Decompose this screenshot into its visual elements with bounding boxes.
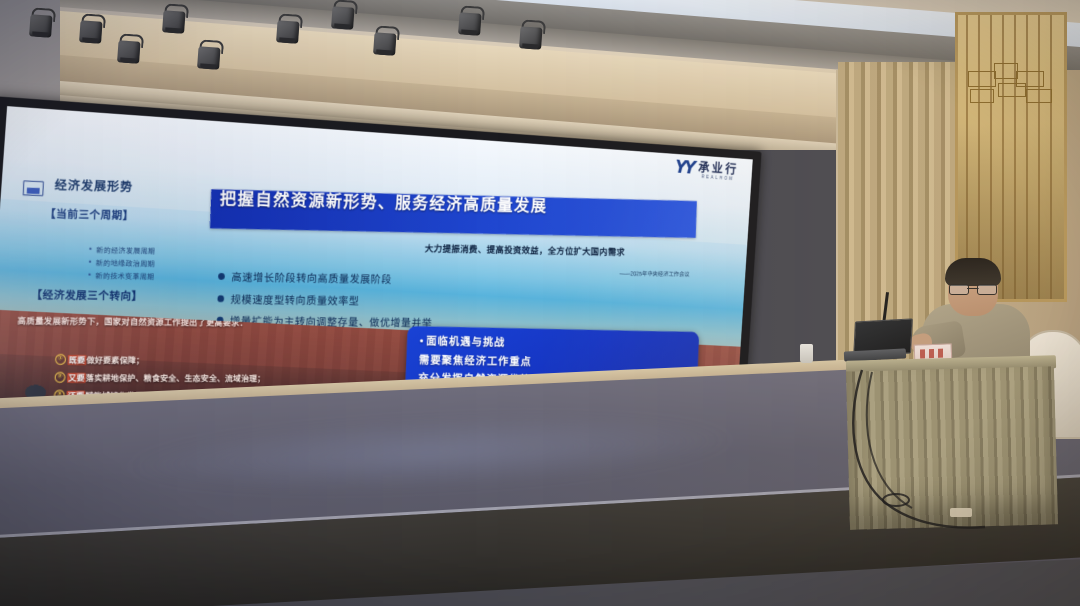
logo-company-cn: 承业行 <box>698 159 739 176</box>
item-text: 落实耕地保护、粮食安全、生态安全、流域治理； <box>86 373 266 383</box>
item-highlight: 又要 <box>67 373 86 383</box>
stage-spotlight-icon <box>27 7 55 39</box>
stage-spotlight-icon <box>160 3 188 35</box>
logo-mark-icon: YY <box>674 159 693 178</box>
cycles-list: 新的经济发展周期 新的地缘政治周期 新的技术变革周期 <box>56 244 155 284</box>
stage-spotlight-icon <box>115 33 143 65</box>
water-cup <box>800 344 813 363</box>
section-heading: 经济发展形势 <box>55 174 134 195</box>
eyeglasses-icon <box>949 284 997 293</box>
bracket-heading-turns: 【经济发展三个转向】 <box>31 287 143 304</box>
section-marker-icon <box>23 181 44 196</box>
stage-spotlight-icon <box>329 0 357 31</box>
presenter-hair <box>945 258 1001 286</box>
callout-line-1: 面临机遇与挑战 <box>419 333 698 353</box>
list-item: 新的地缘政治周期 <box>95 258 154 270</box>
stage-spotlight-icon <box>456 5 484 37</box>
list-item: 新的技术变革周期 <box>95 271 154 283</box>
bracket-heading-cycles: 【当前三个周期】 <box>45 206 135 224</box>
item-text: 做好要素保障； <box>86 355 144 365</box>
stage-spotlight-icon <box>517 19 545 51</box>
stage-spotlight-icon <box>371 25 399 57</box>
company-logo: YY 承业行 REALHOM <box>674 158 739 182</box>
item-number: ② <box>54 372 65 383</box>
item-number: ① <box>55 354 66 365</box>
presenter-table <box>846 358 1056 533</box>
list-item: 规模速度型转向质量效率型 <box>230 291 742 312</box>
item-highlight: 既要 <box>68 355 87 365</box>
slide-subtitle: 大力提振消费、提高投资效益，全方位扩大国内需求 <box>425 241 626 258</box>
table-skirt <box>846 366 1058 529</box>
presentation-room-photo: YY 承业行 REALHOM 经济发展形势 【当前三个周期】 新的经济发展周期 … <box>0 0 1080 606</box>
stage-spotlight-icon <box>195 39 223 71</box>
list-item: 新的经济发展周期 <box>96 245 155 257</box>
stage-spotlight-icon <box>77 13 105 45</box>
stage-spotlight-icon <box>274 13 302 45</box>
